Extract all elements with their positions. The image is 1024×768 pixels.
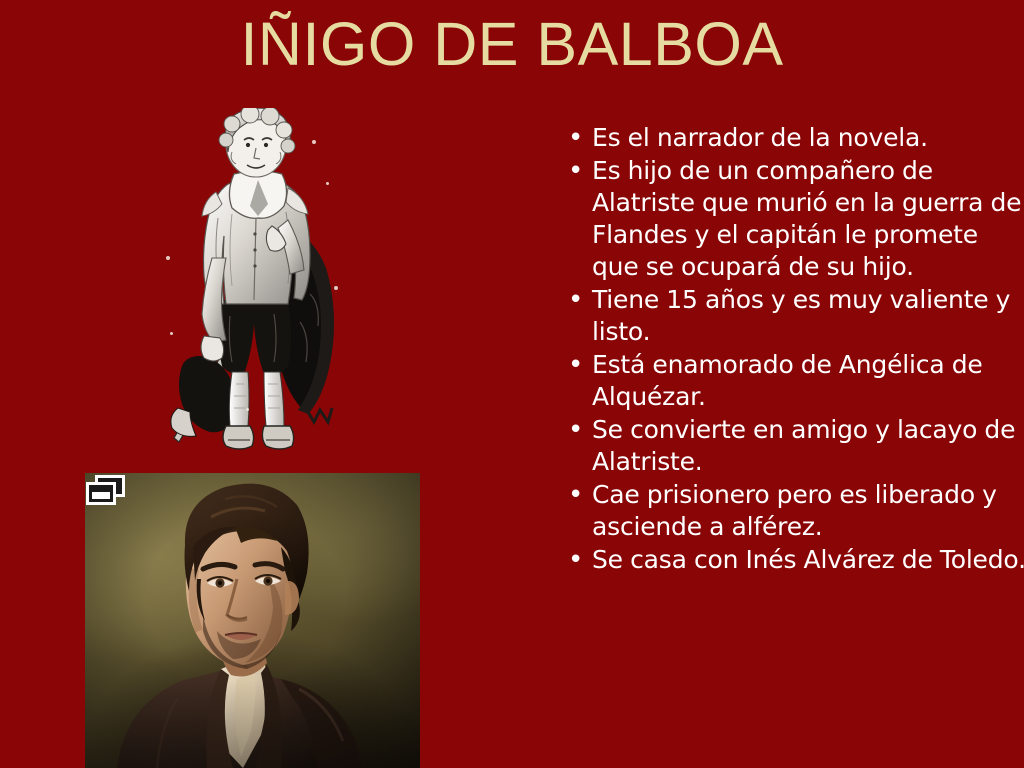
speckle-artifact	[246, 408, 249, 411]
bullet-marker: •	[558, 155, 592, 187]
engraving-page-boy	[160, 108, 360, 456]
bullet-text: Cae prisionero pero es liberado y ascien…	[592, 479, 1024, 543]
bullet-marker: •	[558, 479, 592, 511]
bullet-marker: •	[558, 122, 592, 154]
bullet-marker: •	[558, 544, 592, 576]
speckle-artifact	[334, 286, 338, 290]
bullet-text: Se convierte en amigo y lacayo de Alatri…	[592, 414, 1024, 478]
speckle-artifact	[166, 256, 170, 260]
list-item: • Se convierte en amigo y lacayo de Alat…	[558, 414, 1024, 478]
bullet-text: Es el narrador de la novela.	[592, 122, 1024, 154]
bullet-text: Tiene 15 años y es muy valiente y listo.	[592, 284, 1024, 348]
speckle-artifact	[170, 332, 173, 335]
list-item: • Es el narrador de la novela.	[558, 122, 1024, 154]
bullet-marker: •	[558, 414, 592, 446]
photo-young-man	[85, 473, 420, 768]
speckle-artifact	[312, 140, 316, 144]
bullet-list: • Es el narrador de la novela. • Es hijo…	[558, 122, 1024, 577]
bullet-text: Se casa con Inés Alvárez de Toledo.	[592, 544, 1024, 576]
list-item: • Tiene 15 años y es muy valiente y list…	[558, 284, 1024, 348]
list-item: • Se casa con Inés Alvárez de Toledo.	[558, 544, 1024, 576]
page-title: IÑIGO DE BALBOA	[0, 12, 1024, 76]
bullet-marker: •	[558, 284, 592, 316]
bullet-marker: •	[558, 349, 592, 381]
list-item: • Está enamorado de Angélica de Alquézar…	[558, 349, 1024, 413]
presentation-slide: IÑIGO DE BALBOA	[0, 0, 1024, 768]
list-item: • Cae prisionero pero es liberado y asci…	[558, 479, 1024, 543]
bullet-text: Está enamorado de Angélica de Alquézar.	[592, 349, 1024, 413]
list-item: • Es hijo de un compañero de Alatriste q…	[558, 155, 1024, 283]
bullet-text: Es hijo de un compañero de Alatriste que…	[592, 155, 1024, 283]
speckle-artifact	[326, 182, 329, 185]
photo-vignette	[85, 473, 420, 768]
cascade-windows-icon	[85, 473, 127, 507]
